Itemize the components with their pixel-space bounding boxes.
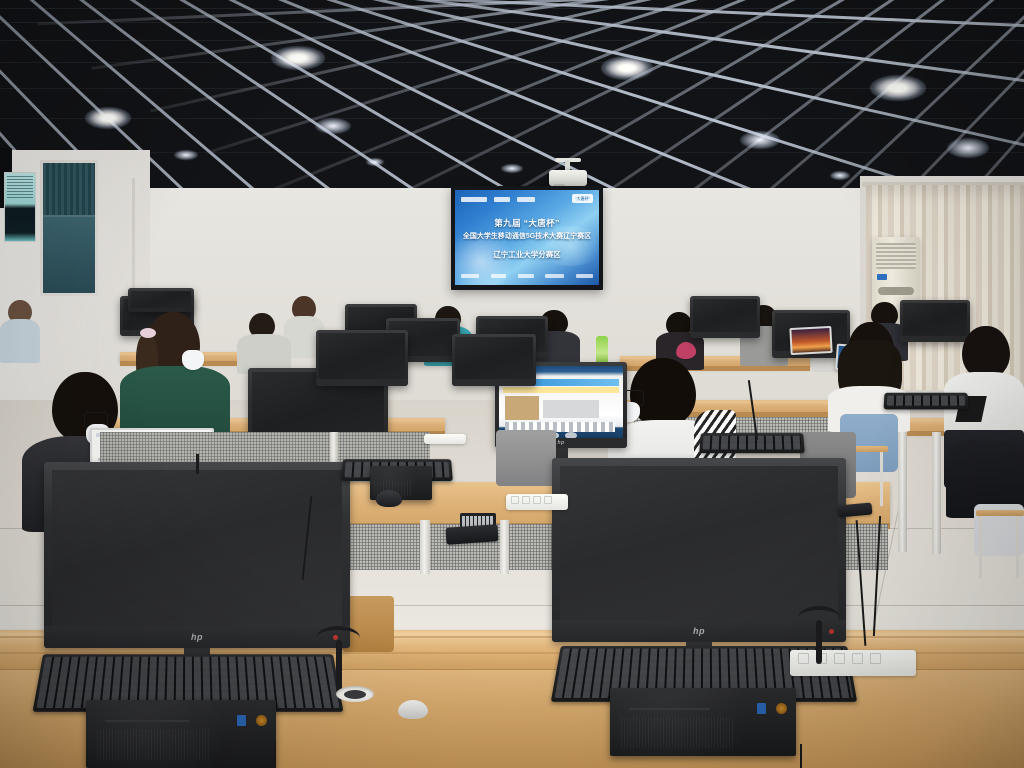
laptop-screen xyxy=(791,328,830,353)
power-strip-front[interactable] xyxy=(790,650,916,676)
ceiling-projector xyxy=(545,160,591,188)
computer-lab-photo: “大唐杯” 第九届 “大唐杯” 全国大学生移动通信5G技术大赛辽宁赛区 辽宁工业… xyxy=(0,0,1024,768)
pc-tower-front-center[interactable] xyxy=(610,688,796,756)
person-back-gray-hoodie xyxy=(237,313,291,363)
poster-text-block xyxy=(7,176,33,198)
left-window xyxy=(40,160,98,296)
person-far-left xyxy=(0,300,40,360)
pc-tower-front-left[interactable] xyxy=(86,700,276,768)
slide-title-line3: 辽宁工业大学分赛区 xyxy=(455,249,599,260)
ceiling-rail xyxy=(0,62,1024,63)
monitor-mid-center[interactable] xyxy=(452,334,536,386)
monitor-back-5[interactable] xyxy=(690,296,760,338)
monitor-mid-left-2[interactable] xyxy=(316,330,408,386)
smartphone-on-desk[interactable] xyxy=(445,524,498,545)
ceiling-light xyxy=(271,46,325,70)
cable-5 xyxy=(800,744,802,768)
slide-sponsor-label: “大唐杯” xyxy=(575,197,590,201)
desk-leg-2 xyxy=(500,520,509,574)
ceiling-light xyxy=(830,171,850,180)
ceiling-light xyxy=(501,164,523,173)
desk-mid-left-panel xyxy=(100,432,430,462)
ceiling-rail xyxy=(0,8,1024,9)
ceiling-rail xyxy=(0,152,1024,153)
screen-canvas: “大唐杯” 第九届 “大唐杯” 全国大学生移动通信5G技术大赛辽宁赛区 辽宁工业… xyxy=(455,190,599,285)
slide-logo-3 xyxy=(517,197,535,202)
cable-grommet-hole xyxy=(344,690,366,699)
power-strip-back[interactable] xyxy=(424,434,466,444)
slide-logo-2 xyxy=(494,197,510,202)
keyboard-mid-right[interactable] xyxy=(699,433,805,453)
projection-screen: “大唐杯” 第九届 “大唐杯” 全国大学生移动通信5G技术大赛辽宁赛区 辽宁工业… xyxy=(451,186,603,290)
monitor-back-8[interactable] xyxy=(128,288,194,312)
slide-sponsor-badge: “大唐杯” xyxy=(572,194,593,203)
ceiling-light xyxy=(85,107,131,129)
ceiling-light xyxy=(315,118,351,134)
desk-leg-1 xyxy=(420,520,430,574)
ceiling-light xyxy=(601,56,653,80)
slide-bottom-logo-1 xyxy=(461,274,479,278)
slide-bottom-logo-4 xyxy=(545,274,564,278)
beverage-bottle xyxy=(596,336,608,364)
ceiling-rail xyxy=(0,118,1024,119)
slide-bottom-logo-2 xyxy=(491,274,506,278)
desk-leg-4 xyxy=(898,432,907,552)
mouse-mid[interactable] xyxy=(376,490,402,507)
ceiling-light xyxy=(947,138,989,158)
ceiling-rail xyxy=(0,40,1024,41)
ceiling-light xyxy=(366,158,384,166)
wall-poster xyxy=(4,172,36,242)
slide-bottom-logo-3 xyxy=(518,274,534,278)
slide-bottom-logos xyxy=(461,273,593,279)
ceiling-light xyxy=(870,75,926,101)
ac-badge xyxy=(877,274,887,280)
window-louver xyxy=(43,163,95,215)
hp-logo-icon: hp xyxy=(693,626,705,636)
hp-logo-icon: hp xyxy=(191,632,203,642)
slide-title-line1: 第九届 “大唐杯” xyxy=(455,217,599,229)
slide-logo-1 xyxy=(461,197,487,202)
chair-gray-center[interactable] xyxy=(496,430,556,486)
ceiling-light xyxy=(740,131,780,149)
hair-tie xyxy=(140,328,156,338)
keyboard-back-right[interactable] xyxy=(884,393,969,410)
slide-title-line2: 全国大学生移动通信5G技术大赛辽宁赛区 xyxy=(457,231,597,241)
ac-vent xyxy=(878,287,914,295)
cable-7 xyxy=(196,454,199,474)
hp-logo-icon: hp xyxy=(557,440,564,446)
ceiling-rail xyxy=(0,22,1024,23)
desk-leg-5 xyxy=(932,432,941,554)
mouse-front-white[interactable] xyxy=(398,700,428,719)
microphone-gooseneck-2 xyxy=(798,606,840,630)
microphone-gooseneck xyxy=(316,626,360,650)
ceiling-light xyxy=(174,150,198,160)
window-glass xyxy=(43,217,95,293)
slide-bottom-logo-5 xyxy=(576,274,593,278)
ceiling-slat xyxy=(0,0,1024,137)
stool-far-right[interactable] xyxy=(976,510,1024,580)
ac-grille xyxy=(876,243,916,269)
cable-6 xyxy=(274,742,276,768)
power-strip-mid[interactable] xyxy=(506,494,568,510)
